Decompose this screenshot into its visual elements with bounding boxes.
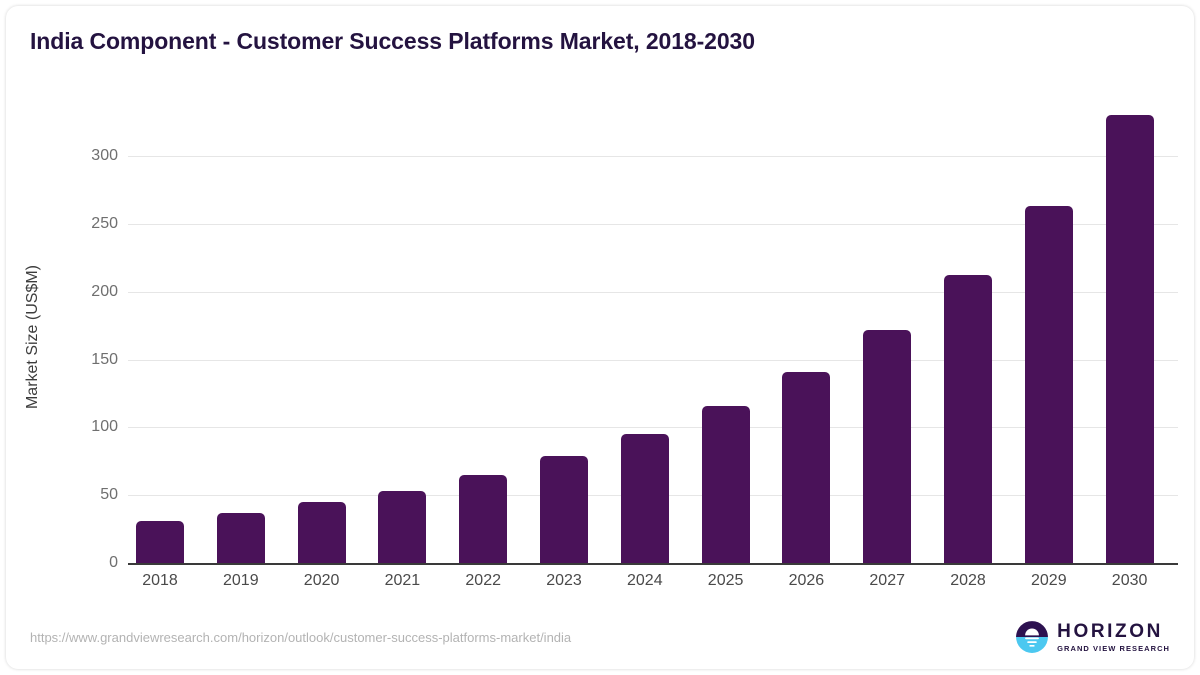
bar[interactable] <box>540 456 588 563</box>
horizon-sun-circle-icon <box>1015 620 1049 654</box>
source-url[interactable]: https://www.grandviewresearch.com/horizo… <box>30 630 571 645</box>
logo-text: HORIZON GRAND VIEW RESEARCH <box>1057 622 1170 653</box>
x-axis-tick-label: 2026 <box>766 572 846 590</box>
x-axis-tick-label: 2021 <box>362 572 442 590</box>
bar[interactable] <box>298 502 346 563</box>
x-axis-tick-label: 2023 <box>524 572 604 590</box>
x-axis-tick-label: 2022 <box>443 572 523 590</box>
plot-area: Market Size (US$M) 050100150200250300 20… <box>6 6 1194 669</box>
x-axis-tick-label: 2020 <box>282 572 362 590</box>
x-axis-tick-label: 2019 <box>201 572 281 590</box>
bar[interactable] <box>136 521 184 563</box>
bar[interactable] <box>863 330 911 563</box>
x-axis-tick-label: 2030 <box>1090 572 1170 590</box>
x-axis-tick-label: 2025 <box>686 572 766 590</box>
bar[interactable] <box>782 372 830 563</box>
bar[interactable] <box>1106 115 1154 563</box>
x-axis-tick-label: 2027 <box>847 572 927 590</box>
bar[interactable] <box>1025 206 1073 563</box>
bar[interactable] <box>702 406 750 563</box>
bar[interactable] <box>944 275 992 563</box>
bar[interactable] <box>217 513 265 563</box>
bar-series: 2018201920202021202220232024202520262027… <box>6 6 1194 669</box>
x-axis-tick-label: 2024 <box>605 572 685 590</box>
brand-logo: HORIZON GRAND VIEW RESEARCH <box>1015 620 1170 654</box>
bar[interactable] <box>459 475 507 563</box>
bar[interactable] <box>621 434 669 563</box>
logo-subtitle: GRAND VIEW RESEARCH <box>1057 645 1170 653</box>
x-axis-tick-label: 2018 <box>120 572 200 590</box>
x-axis-tick-label: 2028 <box>928 572 1008 590</box>
logo-name: HORIZON <box>1057 622 1170 641</box>
bar[interactable] <box>378 491 426 563</box>
x-axis-tick-label: 2029 <box>1009 572 1089 590</box>
chart-card: India Component - Customer Success Platf… <box>6 6 1194 669</box>
